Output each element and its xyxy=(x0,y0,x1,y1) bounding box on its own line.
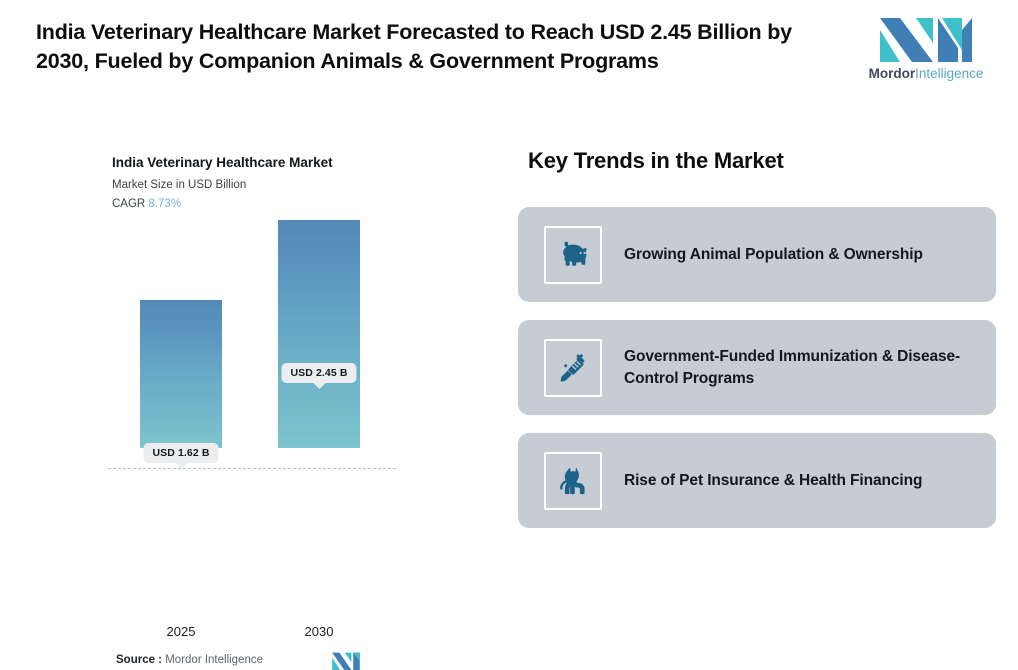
brand-wordmark: MordorIntelligence xyxy=(869,66,984,81)
page-title: India Veterinary Healthcare Market Forec… xyxy=(36,18,826,75)
pig-icon xyxy=(555,237,591,273)
trend-card-animal-population[interactable]: Growing Animal Population & Ownership xyxy=(518,207,996,302)
bar-value-label-2030: USD 2.45 B xyxy=(281,363,356,383)
mordor-m-mark-icon xyxy=(331,652,361,670)
trend-card-label: Growing Animal Population & Ownership xyxy=(624,244,923,266)
bar-2030 xyxy=(278,220,360,448)
trend-card-pet-insurance[interactable]: Rise of Pet Insurance & Health Financing xyxy=(518,433,996,528)
syringe-icon xyxy=(555,350,591,386)
trend-card-label: Rise of Pet Insurance & Health Financing xyxy=(624,470,922,492)
source-value: Mordor Intelligence xyxy=(165,654,263,666)
brand-name-bold: Mordor xyxy=(869,66,916,81)
infographic-page: India Veterinary Healthcare Market Forec… xyxy=(0,0,1018,570)
source-note: Source : Mordor Intelligence xyxy=(116,654,263,666)
brand-logo: MordorIntelligence xyxy=(866,16,986,81)
source-label: Source : xyxy=(116,654,162,666)
key-trends-title: Key Trends in the Market xyxy=(528,148,784,174)
bar-chart-plot: USD 1.62 B USD 2.45 B 2025 2030 xyxy=(0,130,500,530)
bar-value-label-2025: USD 1.62 B xyxy=(143,443,218,463)
x-axis-tick-2030: 2030 xyxy=(305,624,334,639)
x-axis-tick-2025: 2025 xyxy=(167,624,196,639)
trend-card-immunization[interactable]: Government-Funded Immunization & Disease… xyxy=(518,320,996,415)
cat-icon xyxy=(555,463,591,499)
trend-icon-box xyxy=(544,226,602,284)
reference-line xyxy=(108,468,396,469)
trend-card-label: Government-Funded Immunization & Disease… xyxy=(624,346,978,389)
chart-panel: India Veterinary Healthcare Market Marke… xyxy=(0,130,500,570)
trend-icon-box xyxy=(544,339,602,397)
trend-icon-box xyxy=(544,452,602,510)
bar-2025 xyxy=(140,300,222,448)
mordor-m-logo-icon xyxy=(876,16,976,62)
brand-name-light: Intelligence xyxy=(915,66,983,81)
